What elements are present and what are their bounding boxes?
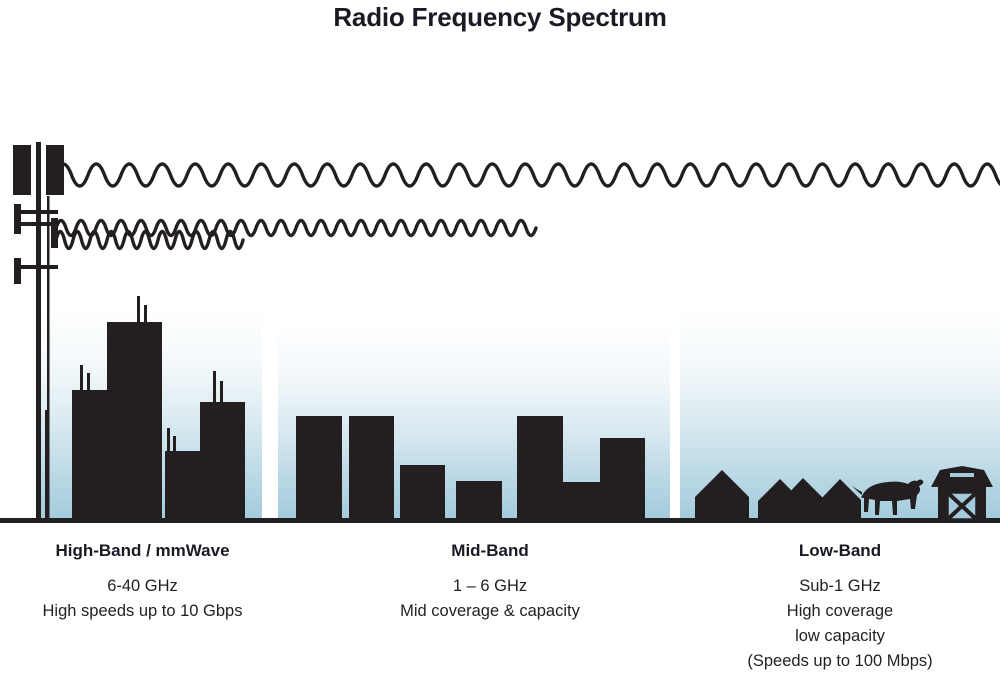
antenna-panel-top-left <box>13 145 31 195</box>
low-frequency-wave <box>55 164 1000 186</box>
infographic-root: Radio Frequency Spectrum <box>0 0 1000 700</box>
skyscraper-1-spire-a <box>80 365 83 393</box>
band-title-low: Low-Band <box>695 540 985 562</box>
midrise-4 <box>456 481 502 520</box>
skyscraper-3 <box>165 451 205 520</box>
barn-hayloft-window <box>950 473 974 477</box>
antenna-panel-low-left <box>14 258 21 284</box>
skyscraper-2-spire-a <box>137 296 140 326</box>
antenna-crossbar-upper <box>18 210 58 214</box>
band-detail-high-0: High speeds up to 10 Gbps <box>0 599 285 624</box>
band-desc-high: 6-40 GHz High speeds up to 10 Gbps <box>0 574 285 624</box>
midrise-5 <box>517 416 563 520</box>
barn-icon <box>931 466 993 520</box>
band-title-high: High-Band / mmWave <box>0 540 285 562</box>
skyscraper-4-spire-a <box>213 371 216 405</box>
tower-mast <box>36 142 41 520</box>
skyscraper-3-spire-a <box>167 428 170 454</box>
band-desc-low: Sub-1 GHz High coverage low capacity (Sp… <box>695 574 985 674</box>
skyscraper-1-spire-b <box>87 373 90 393</box>
tower-mast-base-leg <box>45 410 49 520</box>
band-frequency-high: 6-40 GHz <box>0 574 285 599</box>
scene-svg <box>0 0 1000 540</box>
band-column-high: High-Band / mmWave 6-40 GHz High speeds … <box>0 540 285 624</box>
antenna-panel-top-right <box>46 145 64 195</box>
spectrum-scene <box>0 0 1000 540</box>
band-labels: High-Band / mmWave 6-40 GHz High speeds … <box>0 540 1000 700</box>
skyscraper-4 <box>200 402 245 520</box>
band-detail-low-0: High coverage <box>695 599 985 624</box>
antenna-panel-mid-left <box>14 204 21 234</box>
skyscraper-3-spire-b <box>173 436 176 454</box>
band-column-low: Low-Band Sub-1 GHz High coverage low cap… <box>695 540 985 674</box>
midrise-2 <box>349 416 394 520</box>
band-desc-mid: 1 – 6 GHz Mid coverage & capacity <box>345 574 635 624</box>
skyscraper-2-spire-b <box>144 305 147 326</box>
band-frequency-low: Sub-1 GHz <box>695 574 985 599</box>
skyscraper-2 <box>107 322 162 520</box>
band-detail-mid-0: Mid coverage & capacity <box>345 599 635 624</box>
band-column-mid: Mid-Band 1 – 6 GHz Mid coverage & capaci… <box>345 540 635 624</box>
midrise-7 <box>600 438 645 520</box>
midrise-3 <box>400 465 445 520</box>
band-detail-low-1: low capacity <box>695 624 985 649</box>
band-frequency-mid: 1 – 6 GHz <box>345 574 635 599</box>
band-detail-low-2: (Speeds up to 100 Mbps) <box>695 649 985 674</box>
band-title-mid: Mid-Band <box>345 540 635 562</box>
antenna-crossbar-lower <box>18 265 58 269</box>
midrise-1 <box>296 416 342 520</box>
skyscraper-4-spire-b <box>220 381 223 405</box>
